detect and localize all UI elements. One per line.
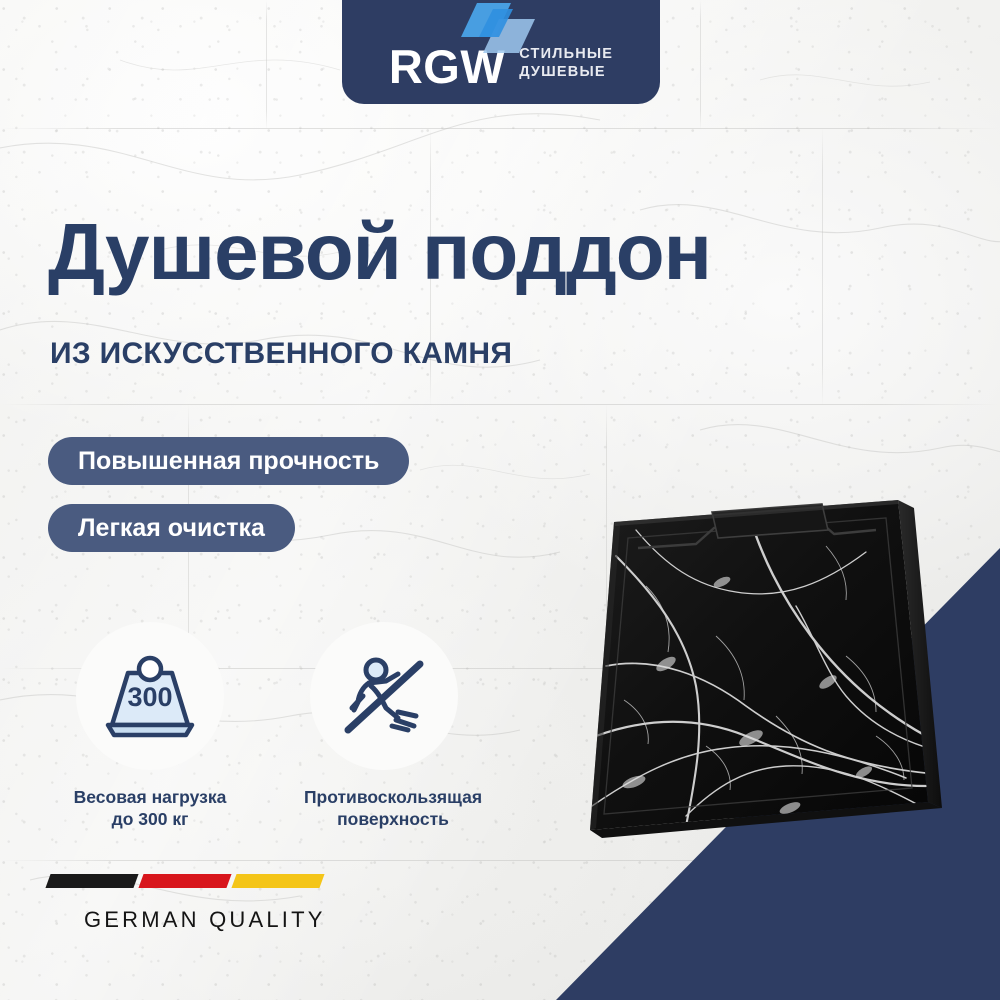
feature-weight-caption: Весовая нагрузка до 300 кг [30, 786, 270, 831]
page-subtitle: ИЗ ИСКУССТВЕННОГО КАМНЯ [50, 337, 512, 371]
flag-bar-black [45, 874, 138, 888]
feature-weight-caption-line2: до 300 кг [30, 808, 270, 830]
weight-300-icon: 300 [102, 651, 198, 741]
feature-anti-slip-caption-line1: Противоскользящая [268, 786, 518, 808]
rgw-logo-mark-icon [439, 0, 547, 59]
product-banner: RGW СТИЛЬНЫЕ ДУШЕВЫЕ Душевой поддон ИЗ И… [0, 0, 1000, 1000]
feature-pill-cleaning: Легкая очистка [48, 504, 295, 552]
flag-bar-red [138, 874, 231, 888]
feature-anti-slip-circle [310, 622, 458, 770]
german-quality-badge: GERMAN QUALITY [48, 874, 326, 933]
german-quality-label: GERMAN QUALITY [84, 907, 326, 933]
feature-weight-load: 300 [76, 622, 224, 770]
feature-anti-slip [310, 622, 458, 770]
feature-anti-slip-caption-line2: поверхность [268, 808, 518, 830]
flag-bar-yellow [231, 874, 324, 888]
brand-tagline-line2: ДУШЕВЫЕ [519, 63, 613, 82]
feature-weight-circle: 300 [76, 622, 224, 770]
feature-pill-strength-label: Повышенная прочность [78, 447, 379, 476]
brand-logo-panel[interactable]: RGW СТИЛЬНЫЕ ДУШЕВЫЕ [342, 0, 660, 104]
feature-pill-strength: Повышенная прочность [48, 437, 409, 485]
feature-anti-slip-caption: Противоскользящая поверхность [268, 786, 518, 831]
feature-weight-caption-line1: Весовая нагрузка [30, 786, 270, 808]
anti-slip-icon [336, 650, 432, 742]
german-flag-bars [48, 874, 326, 888]
page-title: Душевой поддон [48, 212, 948, 292]
feature-pill-cleaning-label: Легкая очистка [78, 514, 265, 543]
product-image-shower-tray [546, 486, 966, 866]
weight-value: 300 [127, 682, 172, 712]
